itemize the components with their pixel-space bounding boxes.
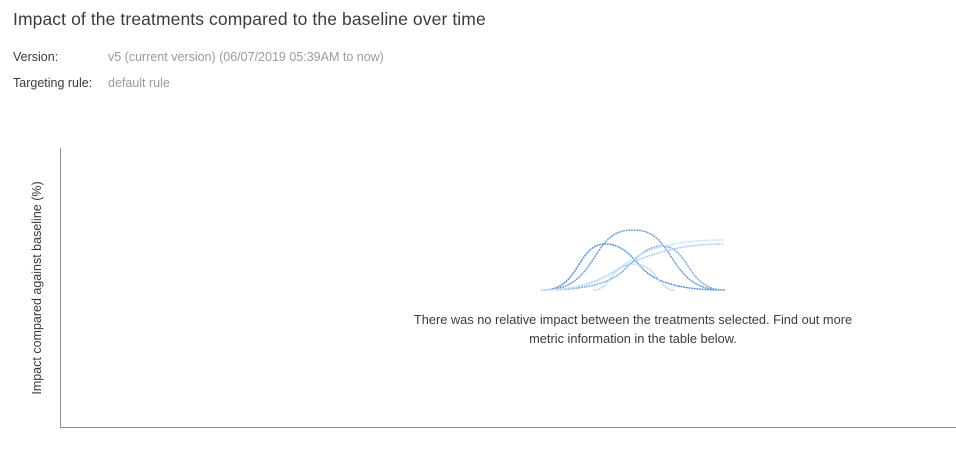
impact-chart: Impact compared against baseline (%) The…	[0, 0, 956, 457]
empty-state-message-line-1: There was no relative impact between the…	[414, 312, 852, 327]
x-axis-line	[60, 427, 956, 428]
y-axis-label: Impact compared against baseline (%)	[29, 148, 45, 428]
empty-state: There was no relative impact between the…	[333, 218, 933, 348]
dotted-bell-curves-icon	[538, 218, 728, 298]
y-axis-line	[60, 148, 61, 428]
empty-state-message: There was no relative impact between the…	[398, 310, 868, 348]
empty-state-message-line-2: metric information in the table below.	[529, 331, 737, 346]
